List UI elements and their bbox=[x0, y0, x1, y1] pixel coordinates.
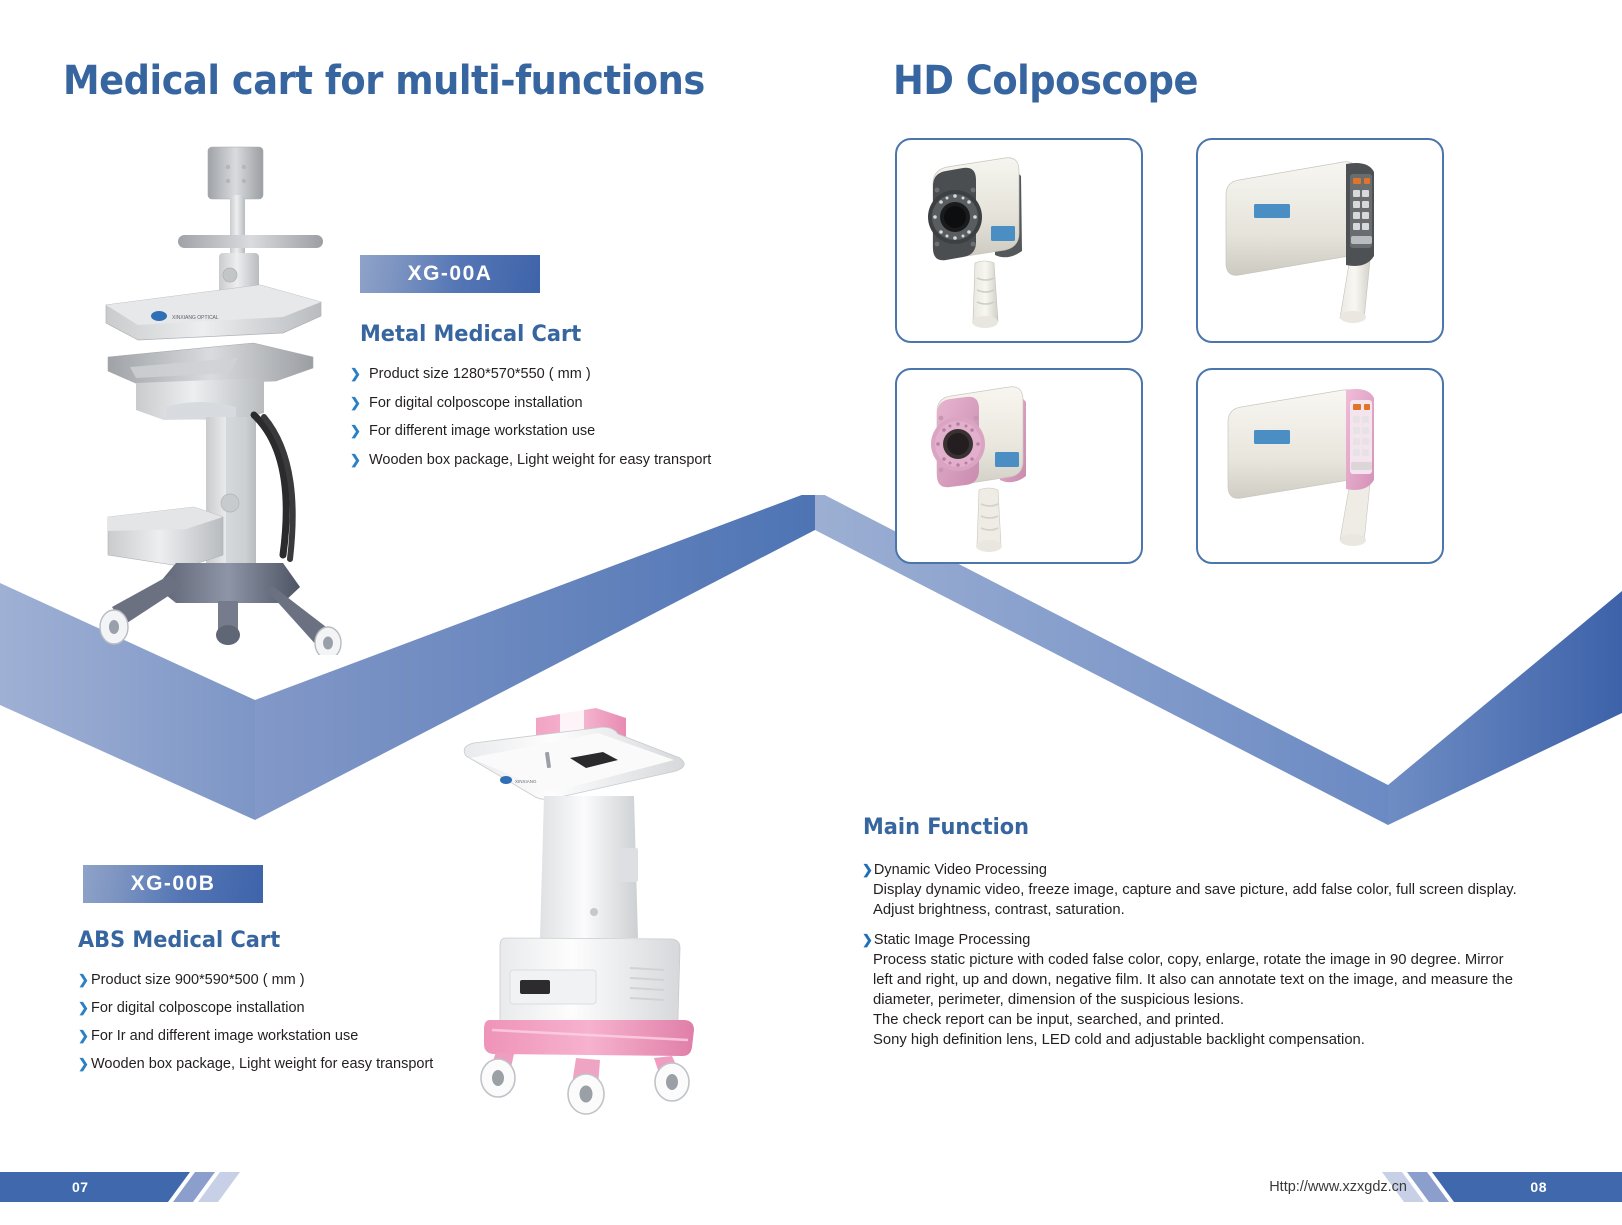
main-function-heading: ❯Dynamic Video Processing bbox=[862, 860, 1532, 880]
feature-list-xg00b: ❯ Product size 900*590*500 ( mm ) ❯ For … bbox=[78, 969, 433, 1081]
main-function-line: diameter, perimeter, dimension of the su… bbox=[862, 990, 1532, 1010]
page-number-right: 08 bbox=[1530, 1179, 1547, 1195]
footer-bar-right bbox=[1372, 1172, 1622, 1202]
main-function-group-static: ❯Static Image Processing Process static … bbox=[862, 930, 1532, 1050]
colposcope-photo-frame-1 bbox=[895, 138, 1143, 343]
model-badge-xg00b: XG-00B bbox=[83, 865, 263, 903]
chevron-right-icon: ❯ bbox=[862, 932, 873, 947]
colposcope-photo-frame-4 bbox=[1196, 368, 1444, 564]
main-function-line: Display dynamic video, freeze image, cap… bbox=[862, 880, 1532, 900]
model-badge-label: XG-00A bbox=[408, 262, 493, 286]
metal-medical-cart-image: XINXIANG OPTICAL bbox=[78, 135, 368, 655]
list-item: ❯ Wooden box package, Light weight for e… bbox=[78, 1053, 433, 1075]
page-title-right: HD Colposcope bbox=[893, 58, 1198, 104]
list-item: ❯ Wooden box package, Light weight for e… bbox=[350, 449, 711, 471]
product-title-abs-cart: ABS Medical Cart bbox=[78, 928, 280, 953]
brochure-page: Medical cart for multi-functions HD Colp… bbox=[0, 0, 1622, 1225]
svg-text:XINXIANG OPTICAL: XINXIANG OPTICAL bbox=[172, 315, 219, 321]
chevron-right-icon: ❯ bbox=[862, 862, 873, 877]
list-item-label: Wooden box package, Light weight for eas… bbox=[91, 1054, 433, 1075]
abs-medical-cart-image: XINXIANG bbox=[448, 700, 748, 1120]
list-item: ❯ For Ir and different image workstation… bbox=[78, 1025, 433, 1047]
main-function-line: left and right, up and down, negative fi… bbox=[862, 970, 1532, 990]
list-item-label: For Ir and different image workstation u… bbox=[91, 1026, 358, 1047]
model-badge-label: XG-00B bbox=[131, 872, 216, 896]
list-item-label: For digital colposcope installation bbox=[91, 998, 305, 1019]
page-title-left: Medical cart for multi-functions bbox=[63, 58, 705, 104]
chevron-right-icon: ❯ bbox=[78, 1053, 91, 1074]
list-item: ❯ Product size 900*590*500 ( mm ) bbox=[78, 969, 433, 991]
main-function-heading: ❯Static Image Processing bbox=[862, 930, 1532, 950]
badge-wrap-xg00a: XG-00A bbox=[360, 255, 540, 293]
main-function-group-dynamic: ❯Dynamic Video Processing Display dynami… bbox=[862, 860, 1532, 920]
badge-wrap-xg00b: XG-00B bbox=[83, 865, 263, 903]
product-title-metal-cart: Metal Medical Cart bbox=[360, 322, 581, 347]
svg-text:XINXIANG: XINXIANG bbox=[515, 779, 537, 784]
list-item: ❯ For digital colposcope installation bbox=[78, 997, 433, 1019]
main-function-heading-label: Static Image Processing bbox=[874, 932, 1030, 948]
list-item-label: For different image workstation use bbox=[369, 421, 595, 442]
model-badge-xg00a: XG-00A bbox=[360, 255, 540, 293]
feature-list-xg00a: ❯ Product size 1280*570*550 ( mm ) ❯ For… bbox=[350, 363, 711, 477]
chevron-right-icon: ❯ bbox=[78, 997, 91, 1018]
list-item: ❯ Product size 1280*570*550 ( mm ) bbox=[350, 363, 711, 385]
main-function-line: Process static picture with coded false … bbox=[862, 950, 1532, 970]
main-function-line: Adjust brightness, contrast, saturation. bbox=[862, 900, 1532, 920]
list-item-label: For digital colposcope installation bbox=[369, 393, 583, 414]
main-function-line: The check report can be input, searched,… bbox=[862, 1010, 1532, 1030]
footer-bar-left bbox=[0, 1172, 250, 1202]
website-url: Http://www.xzxgdz.cn bbox=[1269, 1179, 1407, 1195]
list-item-label: Product size 900*590*500 ( mm ) bbox=[91, 970, 305, 991]
list-item-label: Wooden box package, Light weight for eas… bbox=[369, 450, 711, 471]
list-item: ❯ For different image workstation use bbox=[350, 420, 711, 442]
chevron-right-icon: ❯ bbox=[78, 969, 91, 990]
chevron-right-icon: ❯ bbox=[78, 1025, 91, 1046]
main-function-heading-label: Dynamic Video Processing bbox=[874, 862, 1047, 878]
main-function-line: Sony high definition lens, LED cold and … bbox=[862, 1030, 1532, 1050]
page-number-left: 07 bbox=[72, 1179, 89, 1195]
list-item: ❯ For digital colposcope installation bbox=[350, 392, 711, 414]
list-item-label: Product size 1280*570*550 ( mm ) bbox=[369, 364, 591, 385]
colposcope-photo-frame-2 bbox=[1196, 138, 1444, 343]
colposcope-photo-frame-3 bbox=[895, 368, 1143, 564]
